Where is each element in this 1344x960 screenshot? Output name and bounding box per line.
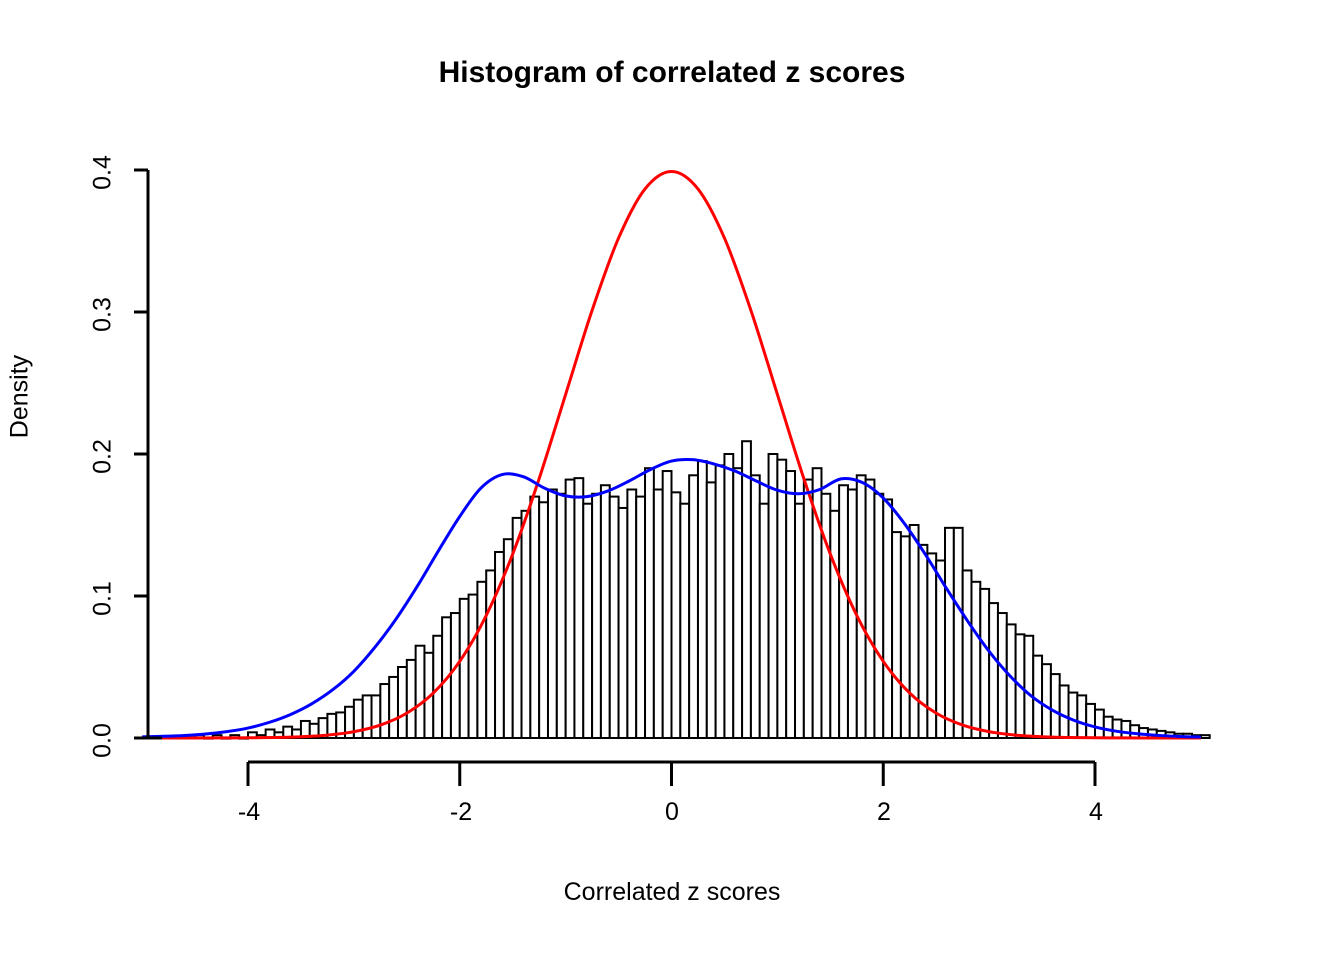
histogram-bar: [610, 497, 619, 738]
histogram-bar: [398, 667, 407, 738]
x-axis-line: [248, 762, 1095, 786]
histogram-bar: [795, 504, 804, 738]
histogram-bar: [1086, 704, 1095, 738]
histogram-bar: [548, 490, 557, 739]
histogram-bar: [1077, 695, 1086, 738]
histogram-bar: [601, 485, 610, 738]
histogram-bar: [654, 490, 663, 739]
histogram-bar: [954, 528, 963, 738]
histogram-bar: [1201, 735, 1210, 738]
histogram-bar: [486, 570, 495, 738]
histogram-bar: [627, 490, 636, 739]
histogram-bar: [663, 471, 672, 738]
histogram-bar: [680, 504, 689, 738]
histogram-bar: [574, 478, 583, 738]
histogram-bar: [1095, 710, 1104, 738]
histogram-bar: [1104, 717, 1113, 738]
histogram-bar: [1069, 693, 1078, 738]
histogram-bar: [971, 582, 980, 738]
histogram-bar: [619, 508, 628, 738]
y-axis-line: [134, 170, 162, 738]
histogram-bar: [980, 589, 989, 738]
histogram-bar: [1113, 720, 1122, 738]
histogram-bar: [557, 494, 566, 738]
histogram-bar: [839, 485, 848, 738]
histogram-bar: [1121, 721, 1130, 738]
histogram-bar: [583, 504, 592, 738]
histogram-bar: [645, 468, 654, 738]
histogram-bar: [416, 646, 425, 738]
histogram-bar: [777, 460, 786, 738]
histogram-bar: [945, 528, 954, 738]
histogram-bar: [469, 595, 478, 738]
histogram-bars: [195, 441, 1210, 738]
histogram-bar: [883, 499, 892, 738]
histogram-bar: [857, 475, 866, 738]
histogram-bar: [786, 471, 795, 738]
histogram-bar: [936, 561, 945, 739]
histogram-bar: [963, 570, 972, 738]
histogram-bar: [742, 441, 751, 738]
histogram-bar: [363, 695, 372, 738]
histogram-bar: [998, 613, 1007, 738]
histogram-bar: [539, 502, 548, 738]
histogram-bar: [460, 599, 469, 738]
histogram-bar: [530, 497, 539, 738]
histogram-bar: [1130, 725, 1139, 738]
histogram-bar: [733, 468, 742, 738]
histogram-bar: [716, 465, 725, 738]
histogram-bar: [910, 525, 919, 738]
histogram-bar: [522, 511, 531, 738]
histogram-bar: [830, 511, 839, 738]
histogram-bar: [724, 454, 733, 738]
histogram-bar: [636, 497, 645, 738]
histogram-bar: [866, 480, 875, 738]
histogram-bar: [689, 475, 698, 738]
histogram-bar: [477, 582, 486, 738]
histogram-bar: [760, 504, 769, 738]
histogram-bar: [919, 545, 928, 738]
histogram-bar: [1060, 685, 1069, 738]
histogram-bar: [751, 475, 760, 738]
histogram-bar: [389, 677, 398, 738]
histogram-bar: [380, 684, 389, 738]
histogram-bar: [672, 492, 681, 738]
histogram-bar: [592, 494, 601, 738]
histogram-bar: [707, 482, 716, 738]
histogram-bar: [372, 695, 381, 738]
histogram-bar: [1051, 674, 1060, 738]
histogram-bar: [407, 660, 416, 738]
histogram-bar: [769, 454, 778, 738]
histogram-bar: [892, 532, 901, 738]
histogram-bar: [1024, 636, 1033, 738]
histogram-bar: [698, 461, 707, 738]
histogram-bar: [901, 536, 910, 738]
histogram-bar: [566, 480, 575, 738]
histogram-bar: [989, 603, 998, 738]
histogram-bar: [804, 480, 813, 738]
histogram-bar: [874, 494, 883, 738]
histogram-bar: [451, 613, 460, 738]
histogram-bar: [1042, 664, 1051, 738]
histogram-plot: Histogram of correlated z scores Density…: [0, 0, 1344, 960]
chart-canvas: [0, 0, 1344, 960]
